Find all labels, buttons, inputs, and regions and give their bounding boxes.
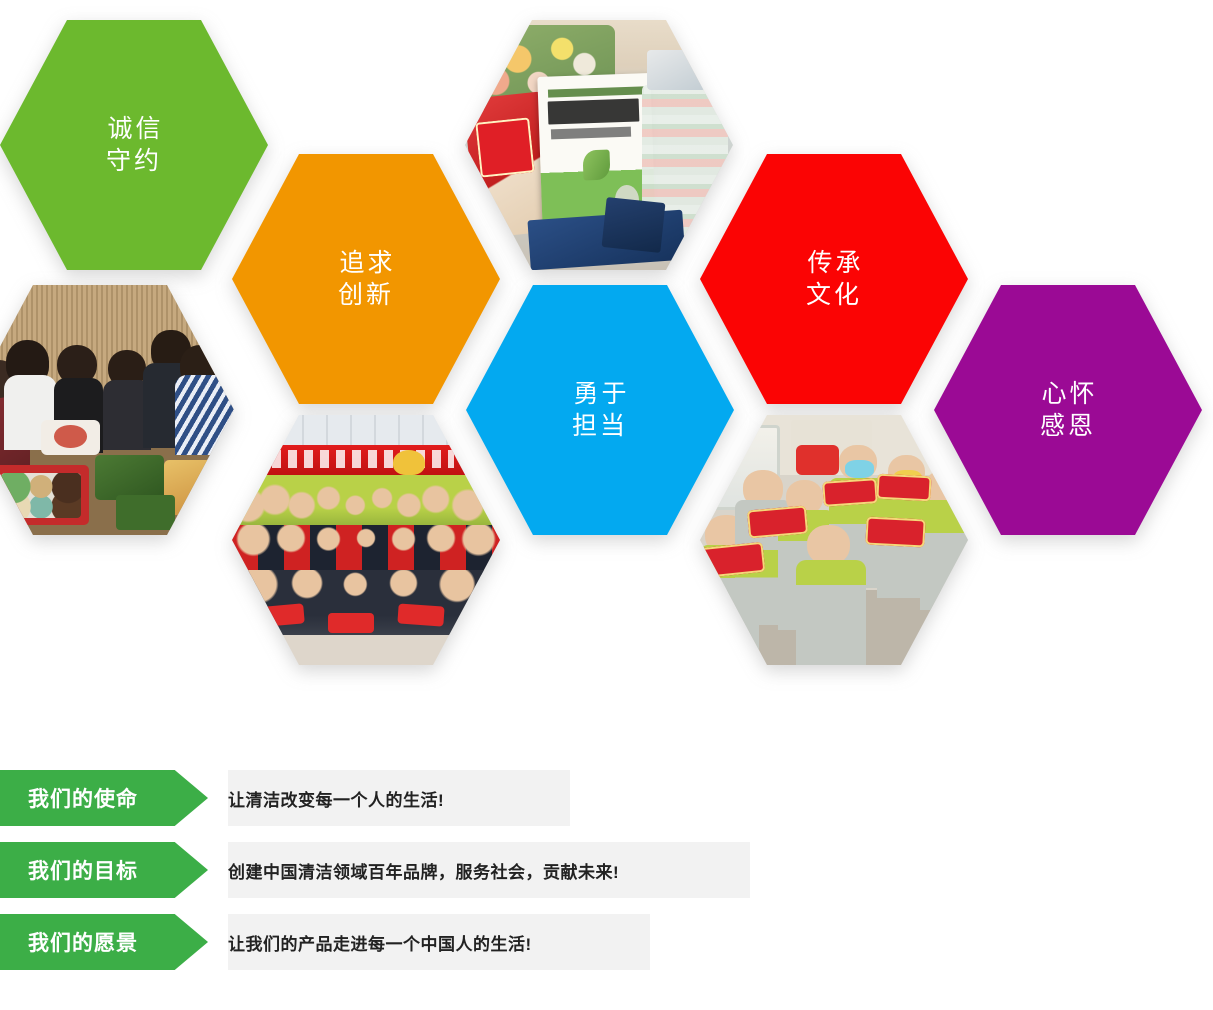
- hex-photo-panel: [700, 415, 968, 665]
- statement-tag: 我们的愿景: [0, 914, 208, 970]
- hex-photo-panel: [232, 415, 500, 665]
- photo-art: [0, 285, 234, 535]
- hex-photo-panel: [465, 20, 733, 270]
- statement-text: 让我们的产品走进每一个中国人的生活!: [228, 930, 532, 955]
- photo-art: [465, 20, 733, 270]
- statement-tag-label: 我们的使命: [28, 783, 138, 813]
- hex-cell-gratitude[interactable]: 心怀 感恩: [934, 285, 1202, 535]
- hex-color-panel: 诚信 守约: [0, 20, 268, 270]
- statement-text: 创建中国清洁领域百年品牌，服务社会，贡献未来!: [228, 858, 619, 883]
- hex-color-panel: 心怀 感恩: [934, 285, 1202, 535]
- statement-tag: 我们的目标: [0, 842, 208, 898]
- hex-cell-integrity[interactable]: 诚信 守约: [0, 20, 268, 270]
- hex-photo-panel: [0, 285, 234, 535]
- photo-art: [700, 415, 968, 665]
- hex-cell-photo-staff[interactable]: [700, 415, 968, 665]
- hex-color-panel: 传承 文化: [700, 154, 968, 404]
- honeycomb-diagram: 诚信 守约追求 创新 勇于 担当传承 文化心怀 感恩: [0, 0, 1213, 760]
- hex-cell-photo-group[interactable]: [232, 415, 500, 665]
- statement-row: 我们的使命让清洁改变每一个人的生活!: [0, 770, 1213, 826]
- hex-label-integrity: 诚信 守约: [104, 113, 163, 178]
- statement-tag-label: 我们的愿景: [28, 927, 138, 957]
- hex-color-panel: 勇于 担当: [466, 285, 734, 535]
- hex-color-panel: 追求 创新: [232, 154, 500, 404]
- statement-tag: 我们的使命: [0, 770, 208, 826]
- hex-cell-photo-books[interactable]: [465, 20, 733, 270]
- statement-body: 让清洁改变每一个人的生活!: [228, 770, 570, 826]
- statement-body: 让我们的产品走进每一个中国人的生活!: [228, 914, 650, 970]
- hex-label-gratitude: 心怀 感恩: [1038, 378, 1097, 443]
- statements-list: 我们的使命让清洁改变每一个人的生活!我们的目标创建中国清洁领域百年品牌，服务社会…: [0, 770, 1213, 986]
- hex-cell-photo-dinner[interactable]: [0, 285, 234, 535]
- hex-label-responsibility: 勇于 担当: [570, 378, 629, 443]
- hex-cell-responsibility[interactable]: 勇于 担当: [466, 285, 734, 535]
- statement-body: 创建中国清洁领域百年品牌，服务社会，贡献未来!: [228, 842, 750, 898]
- statement-row: 我们的目标创建中国清洁领域百年品牌，服务社会，贡献未来!: [0, 842, 1213, 898]
- photo-art: [232, 415, 500, 665]
- hex-cell-culture[interactable]: 传承 文化: [700, 154, 968, 404]
- statement-tag-label: 我们的目标: [28, 855, 138, 885]
- statement-row: 我们的愿景让我们的产品走进每一个中国人的生活!: [0, 914, 1213, 970]
- statement-text: 让清洁改变每一个人的生活!: [228, 786, 444, 811]
- hex-label-innovation: 追求 创新: [336, 247, 395, 312]
- hex-cell-innovation[interactable]: 追求 创新: [232, 154, 500, 404]
- hex-label-culture: 传承 文化: [804, 247, 863, 312]
